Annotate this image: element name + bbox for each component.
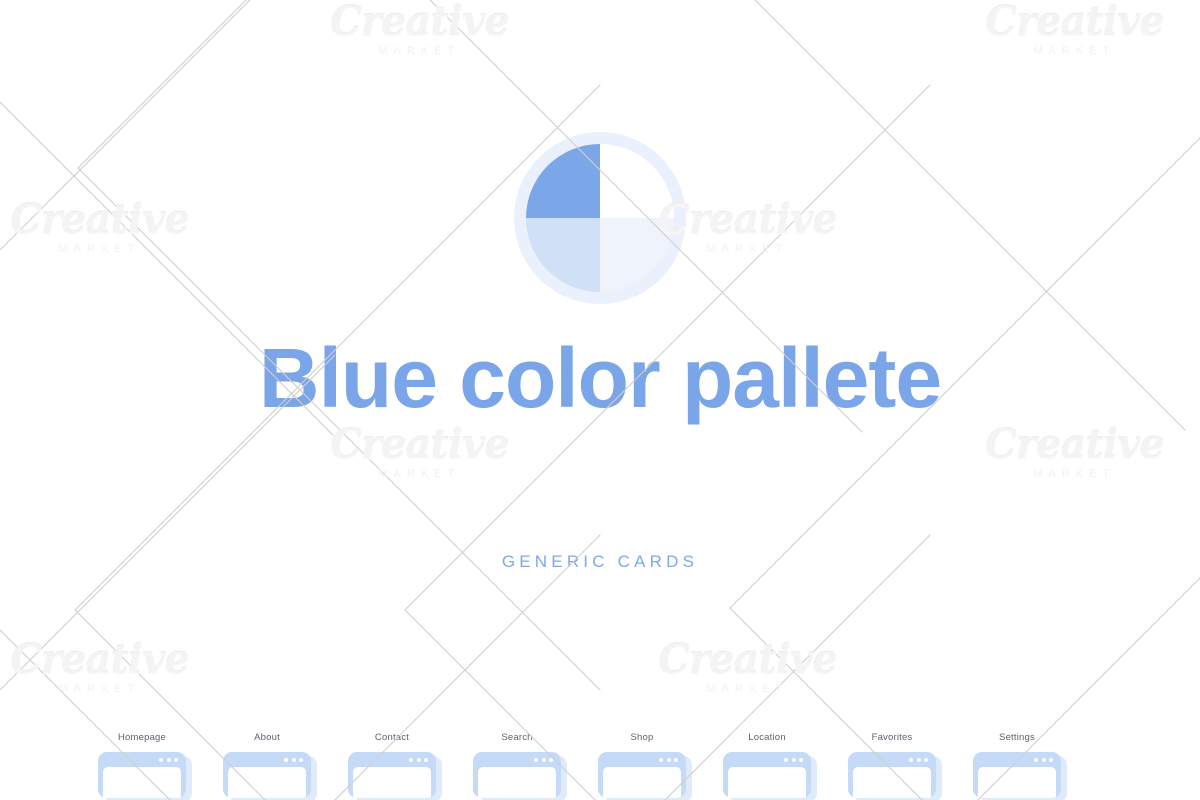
window-dot-icon xyxy=(1042,758,1046,762)
card-label: About xyxy=(254,732,280,743)
window-dot-icon xyxy=(784,758,788,762)
card-body xyxy=(728,767,806,798)
card-item[interactable]: About xyxy=(223,732,311,800)
logo-ring xyxy=(514,132,686,304)
window-dot-icon xyxy=(284,758,288,762)
card-item[interactable]: Search xyxy=(473,732,561,800)
window-dot-icon xyxy=(549,758,553,762)
card-item[interactable]: Settings xyxy=(973,732,1061,800)
pie-segment-bottom-left xyxy=(526,218,600,292)
pie-segment-top-left xyxy=(526,144,600,218)
card-titlebar xyxy=(98,752,186,767)
card-titlebar xyxy=(598,752,686,767)
window-dot-icon xyxy=(409,758,413,762)
pie-segment-top-right xyxy=(600,144,674,218)
window-dot-icon xyxy=(167,758,171,762)
window-dot-icon xyxy=(924,758,928,762)
card-item[interactable]: Location xyxy=(723,732,811,800)
card-titlebar xyxy=(473,752,561,767)
poster-content: Blue color pallete GENERIC CARDS Homepag… xyxy=(0,0,1200,800)
window-dot-icon xyxy=(424,758,428,762)
card-window-mockup xyxy=(98,752,186,798)
card-label: Location xyxy=(748,732,786,743)
card-frame xyxy=(848,752,936,798)
card-label: Contact xyxy=(375,732,409,743)
window-dot-icon xyxy=(674,758,678,762)
card-item[interactable]: Shop xyxy=(598,732,686,800)
card-body xyxy=(228,767,306,798)
card-titlebar xyxy=(223,752,311,767)
window-dot-icon xyxy=(292,758,296,762)
card-body xyxy=(603,767,681,798)
card-label: Settings xyxy=(999,732,1035,743)
card-window-mockup xyxy=(973,752,1061,798)
window-dot-icon xyxy=(534,758,538,762)
card-frame xyxy=(973,752,1061,798)
card-label: Homepage xyxy=(118,732,166,743)
card-titlebar xyxy=(848,752,936,767)
card-label: Search xyxy=(501,732,532,743)
card-window-mockup xyxy=(348,752,436,798)
window-dot-icon xyxy=(159,758,163,762)
card-frame xyxy=(598,752,686,798)
card-item[interactable]: Favorites xyxy=(848,732,936,800)
window-dot-icon xyxy=(792,758,796,762)
card-frame xyxy=(223,752,311,798)
card-item[interactable]: Contact xyxy=(348,732,436,800)
window-dot-icon xyxy=(917,758,921,762)
window-dot-icon xyxy=(659,758,663,762)
logo-wrap xyxy=(0,132,1200,304)
pie-segment-bottom-right xyxy=(600,218,674,292)
card-titlebar xyxy=(723,752,811,767)
card-frame xyxy=(348,752,436,798)
card-frame xyxy=(723,752,811,798)
card-window-mockup xyxy=(223,752,311,798)
card-window-mockup xyxy=(723,752,811,798)
window-dot-icon xyxy=(299,758,303,762)
card-label: Shop xyxy=(631,732,654,743)
card-strip: HomepageAboutContactSearchShopLocationFa… xyxy=(98,732,1108,800)
poster-canvas: Blue color pallete GENERIC CARDS Homepag… xyxy=(0,0,1200,800)
card-label: Favorites xyxy=(872,732,913,743)
card-body xyxy=(103,767,181,798)
card-titlebar xyxy=(348,752,436,767)
window-dot-icon xyxy=(417,758,421,762)
window-dot-icon xyxy=(799,758,803,762)
window-dot-icon xyxy=(174,758,178,762)
card-body xyxy=(353,767,431,798)
card-frame xyxy=(473,752,561,798)
window-dot-icon xyxy=(909,758,913,762)
window-dot-icon xyxy=(667,758,671,762)
card-window-mockup xyxy=(598,752,686,798)
card-item[interactable]: Homepage xyxy=(98,732,186,800)
card-frame xyxy=(98,752,186,798)
window-dot-icon xyxy=(1034,758,1038,762)
card-window-mockup xyxy=(848,752,936,798)
card-titlebar xyxy=(973,752,1061,767)
window-dot-icon xyxy=(542,758,546,762)
pie-chart-logo-icon xyxy=(526,144,674,292)
section-subtitle: GENERIC CARDS xyxy=(0,552,1200,572)
card-body xyxy=(478,767,556,798)
card-body xyxy=(978,767,1056,798)
card-window-mockup xyxy=(473,752,561,798)
page-title: Blue color pallete xyxy=(0,330,1200,426)
window-dot-icon xyxy=(1049,758,1053,762)
card-body xyxy=(853,767,931,798)
